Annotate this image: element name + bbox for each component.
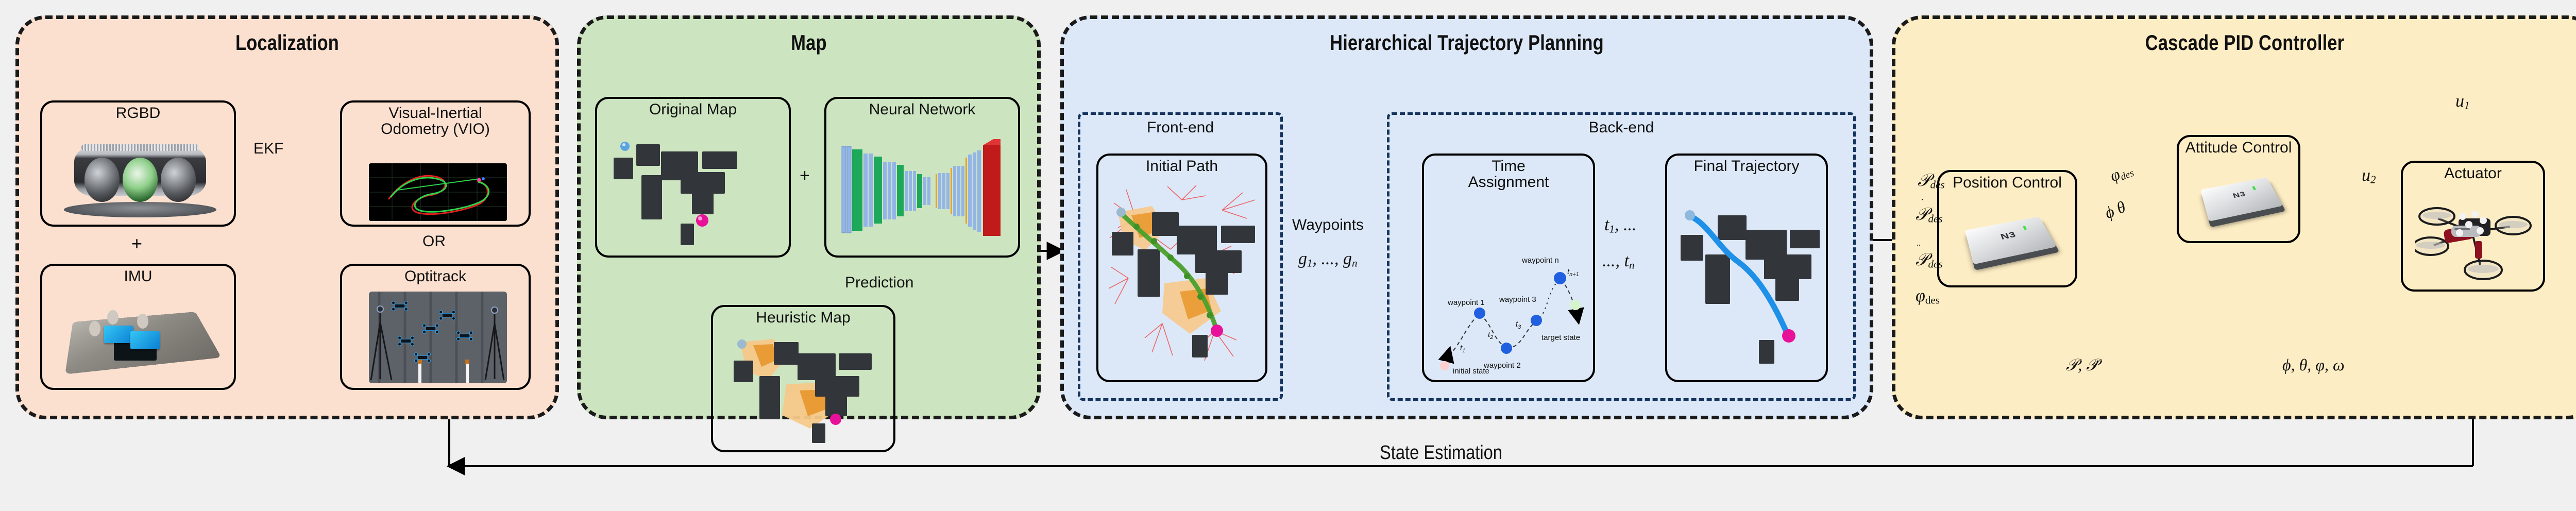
final-trajectory-label: Final Trajectory xyxy=(1693,159,1799,175)
block-rgbd: RGBD xyxy=(40,100,236,227)
waypoints-symbols: g1, ..., gn xyxy=(1298,249,1358,270)
waypoints-g1-sub: 1 xyxy=(1307,257,1313,269)
optitrack-label: Optitrack xyxy=(404,269,466,285)
time-symbols-line2: ..., tn xyxy=(1602,251,1635,272)
pid-title: Cascade PID Controller xyxy=(1958,30,2531,55)
waypoints-gn: g xyxy=(1343,249,1352,268)
svg-text:t3: t3 xyxy=(1516,320,1521,330)
block-position-control: Position Control N3 xyxy=(1937,170,2077,287)
optitrack-capture-image xyxy=(369,292,507,383)
time-tn-sub: n xyxy=(1629,259,1635,271)
svg-text:waypoint 2: waypoint 2 xyxy=(1483,361,1521,370)
diagram-canvas: Localization RGBD + IMU EKF Visual-Inert… xyxy=(0,0,2576,511)
block-optitrack: Optitrack xyxy=(340,264,531,390)
localization-or: OR xyxy=(422,233,446,250)
neural-network-image xyxy=(839,129,1010,252)
initial-path-image xyxy=(1105,182,1263,374)
original-map-label: Original Map xyxy=(649,102,737,118)
localization-ekf: EKF xyxy=(253,140,283,158)
u2-symbol: u xyxy=(2362,166,2370,185)
vio-label-line1: Visual-Inertial xyxy=(388,106,482,122)
block-attitude-control: Attitude Control N3 xyxy=(2177,135,2300,243)
position-control-label: Position Control xyxy=(1953,175,2062,191)
time-assignment-line1: Time xyxy=(1492,159,1526,175)
time-assignment-line2: Assignment xyxy=(1468,175,1549,191)
block-original-map: Original Map xyxy=(595,97,791,258)
vio-label-line2: Odometry (VIO) xyxy=(381,122,490,138)
u1-label: u1 xyxy=(2455,92,2470,112)
localization-plus: + xyxy=(131,233,142,254)
heuristic-map-image xyxy=(724,333,886,443)
map-prediction: Prediction xyxy=(845,274,913,292)
block-vio: Visual-Inertial Odometry (VIO) xyxy=(340,100,531,227)
original-map-image xyxy=(609,126,781,253)
imu-label: IMU xyxy=(124,269,152,285)
attitude-control-label: Attitude Control xyxy=(2185,140,2292,156)
svg-text:t1: t1 xyxy=(1460,344,1465,354)
time-symbols-line1: t1, ... xyxy=(1604,215,1637,236)
u2-sub: 2 xyxy=(2370,174,2376,186)
actuator-label: Actuator xyxy=(2444,166,2502,182)
svg-text:waypoint 3: waypoint 3 xyxy=(1499,295,1536,304)
svg-text:waypoint 1: waypoint 1 xyxy=(1447,298,1485,307)
block-heuristic-map: Heuristic Map xyxy=(711,305,895,452)
block-initial-path: Initial Path xyxy=(1096,154,1267,382)
waypoints-gn-sub: n xyxy=(1352,257,1358,269)
map-plus: + xyxy=(800,166,810,186)
block-actuator: Actuator xyxy=(2401,161,2545,292)
vio-trajectory-image xyxy=(369,163,507,221)
block-imu: IMU xyxy=(40,264,236,390)
planning-title: Hierarchical Trajectory Planning xyxy=(1137,30,1797,55)
svg-text:target state: target state xyxy=(1541,333,1580,342)
map-title: Map xyxy=(622,30,996,55)
feedback-attitude-label: ϕ, θ, φ, ω xyxy=(2282,355,2345,374)
time-tn: ..., t xyxy=(1602,251,1629,270)
time-t1-tail: , ... xyxy=(1615,215,1637,234)
localization-title: Localization xyxy=(67,30,507,55)
drone-image xyxy=(2415,188,2534,285)
block-final-trajectory: Final Trajectory xyxy=(1665,154,1828,382)
feedback-position-label: 𝒫, 𝒫̇ xyxy=(2066,355,2098,375)
svg-text:tn+1: tn+1 xyxy=(1567,267,1579,278)
backend-title: Back-end xyxy=(1389,119,1853,137)
state-estimation-label: State Estimation xyxy=(1380,442,1502,464)
waypoints-mid: , ..., xyxy=(1313,249,1344,268)
u1-sub: 1 xyxy=(2464,99,2470,112)
u2-label: u2 xyxy=(2362,166,2376,186)
imu-board-image xyxy=(58,286,223,384)
time-assignment-diagram: initial state target state waypoint 1 wa… xyxy=(1430,220,1591,375)
neural-network-label: Neural Network xyxy=(869,102,976,118)
block-time-assignment: Time Assignment initial state target s xyxy=(1422,154,1595,382)
frontend-title: Front-end xyxy=(1080,119,1280,137)
block-neural-network: Neural Network xyxy=(824,97,1020,258)
n3-flight-controller-image-attitude: N3 xyxy=(2190,161,2291,233)
svg-text:waypoint n: waypoint n xyxy=(1521,256,1559,265)
time-t1-sub: 1 xyxy=(1609,223,1615,235)
heuristic-map-label: Heuristic Map xyxy=(756,310,850,326)
u1-symbol: u xyxy=(2455,92,2464,111)
rgbd-camera-image xyxy=(54,125,227,221)
waypoints-label: Waypoints xyxy=(1292,216,1364,234)
rgbd-label: RGBD xyxy=(116,106,161,122)
waypoints-g1: g xyxy=(1298,249,1307,268)
input-phi-des-sub: des xyxy=(1925,294,1940,306)
initial-path-label: Initial Path xyxy=(1146,159,1218,175)
input-phi-des: φdes xyxy=(1916,286,1940,307)
final-trajectory-image xyxy=(1673,185,1824,371)
n3-flight-controller-image-position: N3 xyxy=(1953,199,2066,276)
